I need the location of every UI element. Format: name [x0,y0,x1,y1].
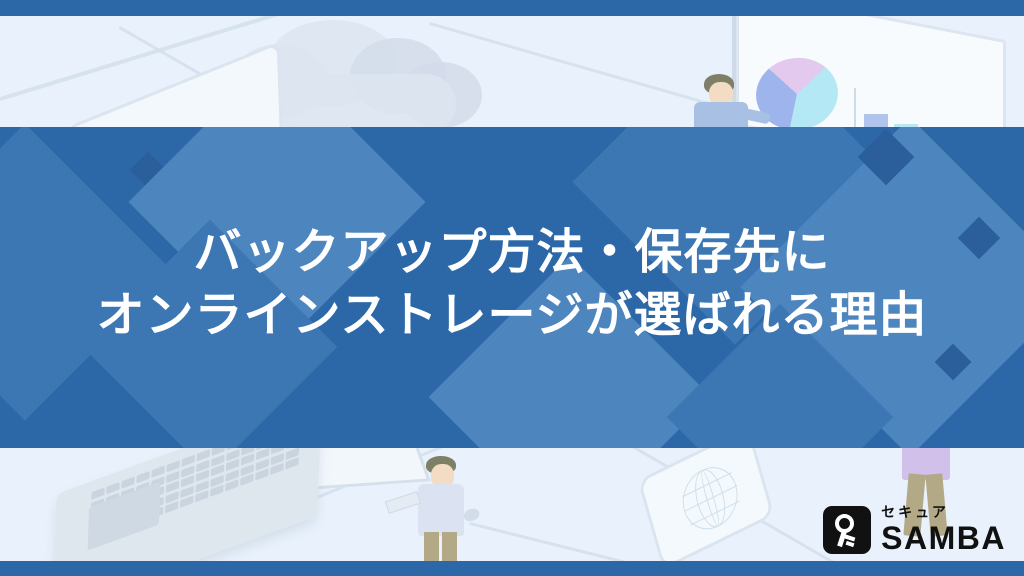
logo-kana: セキュア [881,505,1006,519]
title-line-1: バックアップ方法・保存先に [193,222,830,284]
standing-person [404,456,478,561]
banner-title: バックアップ方法・保存先に オンラインストレージが選ばれる理由 [0,127,1024,448]
logo-wordmark: SAMBA [881,522,1006,554]
smartphone-device [637,448,774,561]
presenter-person [690,74,760,127]
document-icon [385,491,421,514]
title-banner: バックアップ方法・保存先に オンラインストレージが選ばれる理由 [0,127,1024,448]
key-icon [823,506,871,554]
top-edge-strip [0,0,1024,16]
tablet-device [66,41,284,127]
globe-icon [676,457,744,539]
bar-chart-axis [854,88,856,127]
secure-samba-logo: セキュア SAMBA [823,505,1006,554]
bar-chart-bar [864,114,888,127]
title-line-2: オンラインストレージが選ばれる理由 [96,285,927,347]
logo-text: セキュア SAMBA [881,505,1006,554]
hero-image-canvas: バックアップ方法・保存先に オンラインストレージが選ばれる理由 [0,0,1024,576]
top-illustration-band [0,16,1024,127]
bottom-edge-strip [0,561,1024,576]
